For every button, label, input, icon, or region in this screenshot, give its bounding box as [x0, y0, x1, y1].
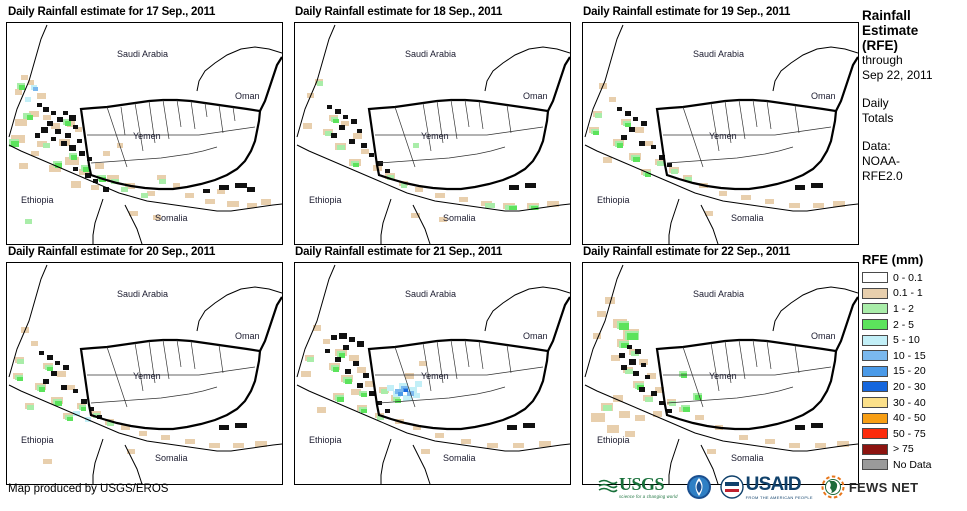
country-label-somalia: Somalia	[731, 453, 764, 463]
country-label-ethiopia: Ethiopia	[21, 195, 54, 205]
country-label-saudi-arabia: Saudi Arabia	[117, 289, 168, 299]
usaid-wordmark: USAID	[746, 475, 813, 494]
country-label-oman: Oman	[235, 91, 260, 101]
noaa-logo	[686, 474, 712, 500]
legend-item-15-20: 15 - 20	[862, 364, 965, 380]
panel-title-5: Daily Rainfall estimate for 21 Sep., 201…	[295, 247, 502, 259]
panel-title-6: Daily Rainfall estimate for 22 Sep., 201…	[583, 247, 790, 259]
legend-label: 0 - 0.1	[893, 272, 923, 284]
legend-label: No Data	[893, 459, 932, 471]
side-header-line-estimate: Estimate	[862, 23, 967, 38]
map-panel-19-sep[interactable]: Saudi Arabia Oman Yemen Ethiopia Somalia	[582, 22, 859, 245]
legend-label: 40 - 50	[893, 412, 926, 424]
country-label-saudi-arabia: Saudi Arabia	[693, 49, 744, 59]
agency-logos: USGS science for a changing world USAID …	[597, 474, 918, 500]
legend-label: 30 - 40	[893, 397, 926, 409]
legend-swatch	[862, 335, 888, 346]
country-label-oman: Oman	[523, 331, 548, 341]
country-label-saudi-arabia: Saudi Arabia	[117, 49, 168, 59]
legend-swatch	[862, 428, 888, 439]
legend: RFE (mm) 0 - 0.1 0.1 - 1 1 - 2 2 - 5 5 -…	[862, 252, 965, 473]
side-header-line-totals: Totals	[862, 111, 967, 126]
country-label-somalia: Somalia	[155, 453, 188, 463]
country-label-ethiopia: Ethiopia	[309, 195, 342, 205]
legend-swatch	[862, 397, 888, 408]
fews-net-logo: FEWS NET	[821, 475, 919, 499]
map-credit: Map produced by USGS/EROS	[8, 483, 168, 495]
side-header-line-noaa: NOAA-	[862, 154, 967, 169]
country-label-yemen: Yemen	[709, 371, 737, 381]
legend-label: 15 - 20	[893, 365, 926, 377]
usaid-logo: USAID FROM THE AMERICAN PEOPLE	[720, 475, 813, 500]
country-label-oman: Oman	[811, 331, 836, 341]
legend-item-10-15: 10 - 15	[862, 348, 965, 364]
legend-item-0-0.1: 0 - 0.1	[862, 270, 965, 286]
map-panel-22-sep[interactable]: Saudi Arabia Oman Yemen Ethiopia Somalia	[582, 262, 859, 485]
legend-swatch	[862, 272, 888, 283]
country-label-ethiopia: Ethiopia	[597, 195, 630, 205]
legend-title: RFE (mm)	[862, 252, 965, 267]
country-label-oman: Oman	[811, 91, 836, 101]
legend-item-5-10: 5 - 10	[862, 332, 965, 348]
country-label-somalia: Somalia	[443, 213, 476, 223]
legend-item-no-data: No Data	[862, 457, 965, 473]
side-header-line-rainfall: Rainfall	[862, 8, 967, 23]
usgs-logo: USGS science for a changing world	[597, 475, 678, 499]
map-panel-20-sep[interactable]: Saudi Arabia Oman Yemen Ethiopia Somalia	[6, 262, 283, 485]
side-header-line-daily: Daily	[862, 96, 967, 111]
fews-globe-icon	[821, 475, 845, 499]
country-label-yemen: Yemen	[133, 131, 161, 141]
country-label-oman: Oman	[523, 91, 548, 101]
side-header-line-rfe: (RFE)	[862, 38, 967, 53]
legend-item-0.1-1: 0.1 - 1	[862, 286, 965, 302]
usgs-wave-icon	[597, 477, 619, 497]
country-label-yemen: Yemen	[421, 371, 449, 381]
legend-label: 2 - 5	[893, 319, 914, 331]
legend-label: 1 - 2	[893, 303, 914, 315]
country-label-ethiopia: Ethiopia	[597, 435, 630, 445]
legend-item-30-40: 30 - 40	[862, 395, 965, 411]
legend-swatch	[862, 319, 888, 330]
legend-label: 50 - 75	[893, 428, 926, 440]
legend-item-2-5: 2 - 5	[862, 317, 965, 333]
map-panel-21-sep[interactable]: Saudi Arabia Oman Yemen Ethiopia Somalia	[294, 262, 571, 485]
legend-swatch	[862, 288, 888, 299]
usaid-tagline: FROM THE AMERICAN PEOPLE	[746, 495, 813, 500]
legend-swatch	[862, 350, 888, 361]
panel-title-1: Daily Rainfall estimate for 17 Sep., 201…	[8, 7, 215, 19]
side-header-line-date: Sep 22, 2011	[862, 68, 967, 83]
side-header-line-rfe2: RFE2.0	[862, 169, 967, 184]
country-label-somalia: Somalia	[155, 213, 188, 223]
country-label-somalia: Somalia	[443, 453, 476, 463]
panel-title-3: Daily Rainfall estimate for 19 Sep., 201…	[583, 7, 790, 19]
side-header-line-data: Data:	[862, 139, 967, 154]
legend-label: 20 - 30	[893, 381, 926, 393]
country-label-saudi-arabia: Saudi Arabia	[405, 49, 456, 59]
legend-item-50-75: 50 - 75	[862, 426, 965, 442]
legend-swatch	[862, 444, 888, 455]
legend-item-40-50: 40 - 50	[862, 410, 965, 426]
legend-label: 5 - 10	[893, 334, 920, 346]
country-label-yemen: Yemen	[709, 131, 737, 141]
country-label-yemen: Yemen	[133, 371, 161, 381]
country-label-somalia: Somalia	[731, 213, 764, 223]
legend-label: 0.1 - 1	[893, 287, 923, 299]
side-header-line-through: through	[862, 53, 967, 68]
side-header-block: Rainfall Estimate (RFE) through Sep 22, …	[862, 8, 967, 184]
map-panel-18-sep[interactable]: Saudi Arabia Oman Yemen Ethiopia Somalia	[294, 22, 571, 245]
legend-label: > 75	[893, 443, 914, 455]
legend-swatch	[862, 303, 888, 314]
map-panel-17-sep[interactable]: Saudi Arabia Oman Yemen Ethiopia Somalia	[6, 22, 283, 245]
panel-title-2: Daily Rainfall estimate for 18 Sep., 201…	[295, 7, 502, 19]
legend-item-20-30: 20 - 30	[862, 379, 965, 395]
panel-title-4: Daily Rainfall estimate for 20 Sep., 201…	[8, 247, 215, 259]
country-label-ethiopia: Ethiopia	[309, 435, 342, 445]
country-label-oman: Oman	[235, 331, 260, 341]
country-label-ethiopia: Ethiopia	[21, 435, 54, 445]
legend-swatch	[862, 381, 888, 392]
fews-net-wordmark: FEWS NET	[849, 480, 919, 495]
legend-item-1-2: 1 - 2	[862, 301, 965, 317]
legend-swatch	[862, 459, 888, 470]
legend-label: 10 - 15	[893, 350, 926, 362]
legend-swatch	[862, 366, 888, 377]
legend-item-gt-75: > 75	[862, 442, 965, 458]
noaa-seal-icon	[686, 474, 712, 500]
country-label-yemen: Yemen	[421, 131, 449, 141]
legend-swatch	[862, 413, 888, 424]
usgs-wordmark: USGS	[619, 475, 678, 493]
usgs-tagline: science for a changing world	[619, 494, 678, 499]
country-label-saudi-arabia: Saudi Arabia	[693, 289, 744, 299]
usaid-seal-icon	[720, 475, 744, 499]
country-label-saudi-arabia: Saudi Arabia	[405, 289, 456, 299]
